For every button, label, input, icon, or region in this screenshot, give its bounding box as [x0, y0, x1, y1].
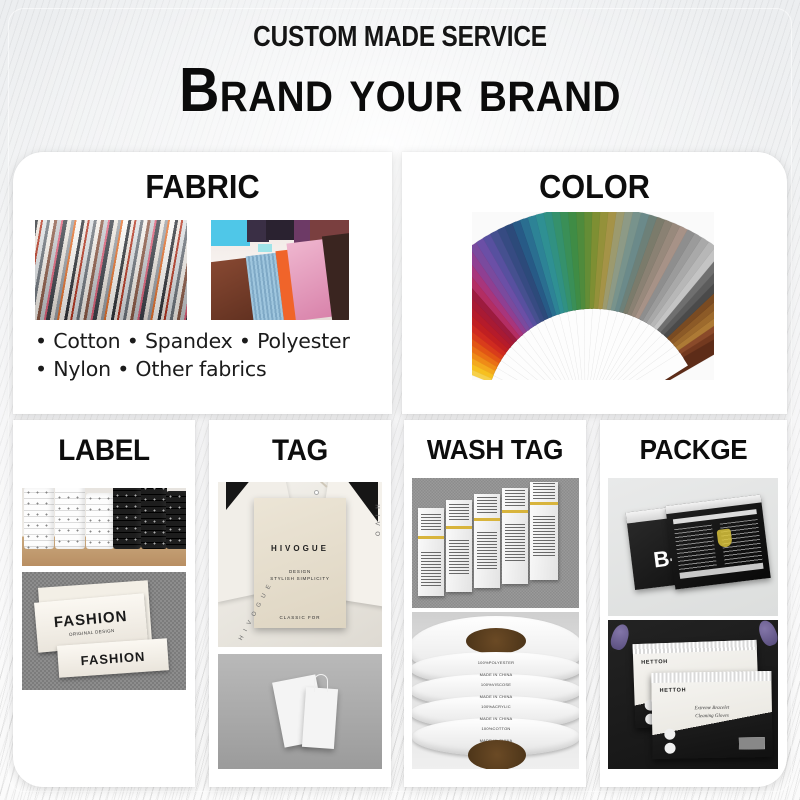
package-pouch-photo: HETTOH Extreme Bracelet HETTOH Extreme B… [608, 620, 778, 769]
panel-fabric-title: FABRIC [26, 152, 378, 206]
hivogue-tag-footer: CLASSIC FOR [279, 615, 320, 620]
label-fashion-photo: FASHION ORIGINAL DESIGN FASHION [22, 572, 186, 690]
panel-wash-tag[interactable]: WASH TAG 100%POLYEST [404, 420, 586, 787]
label-rolls-photo [22, 488, 186, 566]
panel-tag[interactable]: TAG HIVOGUE DESIGN STYLISH SIMPLICITY CL… [209, 420, 391, 787]
pouch-barcode [738, 737, 764, 749]
wash-roll-text-3: 100%ACRYLIC [456, 704, 536, 709]
wash-tag-roll-photo: 100%POLYESTER 100%VISCOSE 100%ACRYLIC 10… [412, 612, 579, 769]
panel-fabric[interactable]: FABRIC • Cotton • Spandex • Polyester • … [13, 152, 392, 414]
hettoh-pouch-brand-back: HETTOH [641, 659, 668, 666]
color-fandeck-photo [472, 212, 714, 380]
panel-label-title: LABEL [19, 420, 188, 468]
wash-roll-origin-1: MADE IN CHINA [456, 672, 536, 677]
wash-roll-origin-2: MADE IN CHINA [456, 694, 536, 699]
hettoh-pouch-script-1: Extreme Bracelet [652, 705, 772, 712]
hivogue-hangtag: HIVOGUE DESIGN STYLISH SIMPLICITY CLASSI… [254, 498, 346, 628]
header-eyebrow: CUSTOM MADE SERVICE [64, 22, 736, 52]
poster-header: CUSTOM MADE SERVICE Brand your brand [0, 22, 800, 122]
hettoh-pouch-brand-front: HETTOH [660, 687, 687, 693]
fashion-label-word-2: FASHION [80, 648, 146, 667]
hettoh-pouch-front: HETTOH Extreme Bracelet Cleaning Gloves [651, 671, 772, 759]
fashion-label-card-front: FASHION [57, 638, 169, 678]
panel-label[interactable]: LABEL FASHION ORIGINAL DESIGN FASHION [13, 420, 195, 787]
panel-package-title: PACKGE [607, 420, 781, 466]
wash-tag-bundles-photo [412, 478, 579, 608]
panel-wash-tag-title: WASH TAG [410, 420, 579, 466]
fabric-samples-photo [211, 220, 349, 320]
panel-tag-title: TAG [215, 420, 384, 468]
polybag-front [665, 494, 771, 589]
hivogue-tag-line-2: STYLISH SIMPLICITY [270, 576, 329, 581]
wash-roll-text-2: 100%VISCOSE [456, 682, 536, 687]
header-headline: Brand your brand [40, 60, 760, 122]
fabric-swatch-photo [35, 220, 187, 320]
package-polybag-photo: B-P [608, 478, 778, 616]
hivogue-tag-line-1: DESIGN [289, 569, 311, 574]
panel-color-title: COLOR [415, 152, 773, 206]
poster-root: CUSTOM MADE SERVICE Brand your brand FAB… [0, 0, 800, 800]
hettoh-pouch-script-2: Cleaning Gloves [652, 713, 772, 720]
wash-roll-text-1: 100%POLYESTER [456, 660, 536, 665]
wash-roll-text-4: 100%COTTON [456, 726, 536, 731]
fashion-label-word-1: FASHION [53, 608, 128, 631]
hangtag-hole [314, 490, 319, 495]
tag-hivogue-photo: HIVOGUE DESIGN STYLISH SIMPLICITY CLASSI… [218, 482, 382, 647]
fabric-material-list: • Cotton • Spandex • Polyester • Nylon •… [35, 328, 382, 384]
wash-roll-origin-3: MADE IN CHINA [456, 716, 536, 721]
panel-color[interactable]: COLOR [402, 152, 787, 414]
tag-white-photo [218, 654, 382, 769]
hivogue-tag-brand: HIVOGUE [271, 544, 329, 553]
white-hangtag-front [302, 687, 338, 749]
panel-package[interactable]: PACKGE B-P HETTOH Extreme Bracelet [600, 420, 787, 787]
fabric-material-line-2: • Nylon • Other fabrics [35, 356, 382, 384]
fabric-material-line-1: • Cotton • Spandex • Polyester [35, 328, 382, 356]
